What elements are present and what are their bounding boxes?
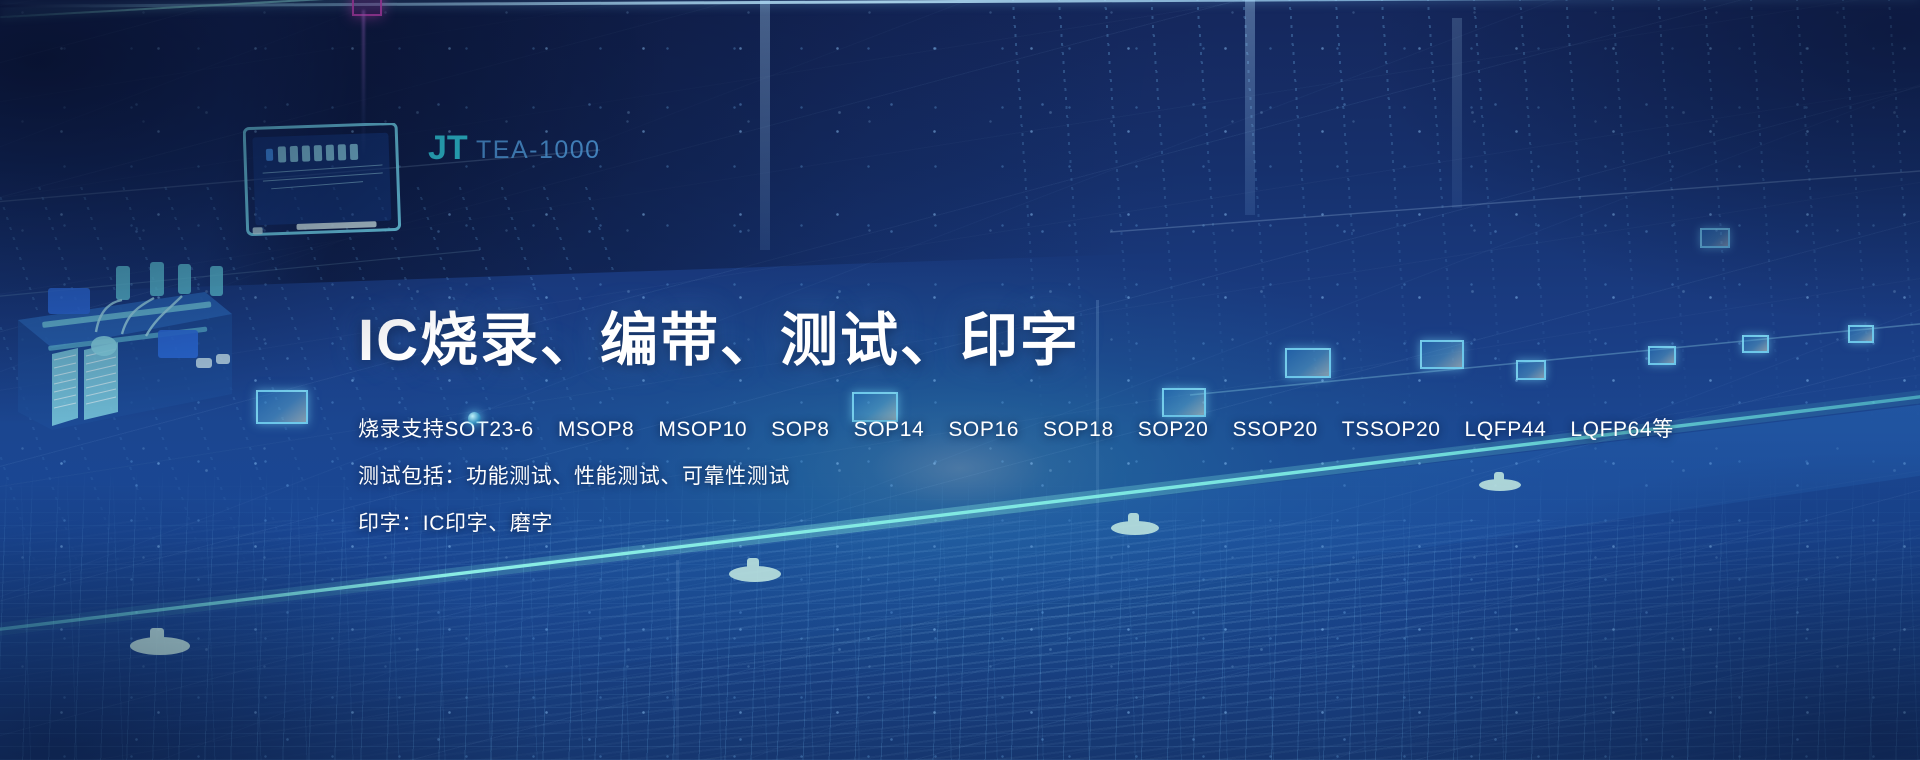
floor-light-streaks: [0, 520, 1920, 760]
chip-screen-8: [1742, 335, 1769, 353]
burn-in-machine-silhouette: [0, 262, 250, 472]
package-tssop20: TSSOP20: [1342, 418, 1441, 441]
chip-screen-1: [256, 390, 308, 424]
workstation-monitor: [243, 123, 403, 241]
list-item-testing: 测试包括：功能测试、性能测试、可靠性测试: [358, 453, 1618, 500]
package-lqfp44: LQFP44: [1465, 418, 1547, 441]
chip-screen-10: [1700, 228, 1730, 248]
package-sop16: SOP16: [948, 418, 1019, 441]
package-sop14: SOP14: [854, 418, 925, 441]
marker-light-beam: [362, 10, 365, 160]
package-ssop20: SSOP20: [1232, 418, 1317, 441]
list-item-burning: 烧录支持SOT23-6MSOP8MSOP10SOP8SOP14SOP16SOP1…: [358, 406, 1618, 453]
package-msop10: MSOP10: [658, 418, 747, 441]
glow-orb-icon: [468, 412, 481, 425]
package-msop8: MSOP8: [558, 418, 635, 441]
page-title: IC烧录、编带、测试、印字: [358, 312, 1618, 370]
package-sop18: SOP18: [1043, 418, 1114, 441]
pillar-3: [1452, 18, 1462, 208]
ic-service-banner: JT TEA-1000 JT TEA-1000 IC烧录、编带、测试、印字 烧录…: [0, 0, 1920, 760]
service-detail-list: 烧录支持SOT23-6MSOP8MSOP10SOP8SOP14SOP16SOP1…: [358, 406, 1618, 547]
pillar-2: [1245, 0, 1255, 215]
pillar-1: [760, 0, 770, 250]
banner-text-content: IC烧录、编带、测试、印字 烧录支持SOT23-6MSOP8MSOP10SOP8…: [358, 312, 1618, 547]
svg-text:TEA-1000: TEA-1000: [476, 136, 601, 164]
chip-screen-9: [1848, 325, 1874, 343]
package-sop20: SOP20: [1138, 418, 1209, 441]
svg-text:JT: JT: [428, 129, 468, 167]
magenta-marker-icon: [352, 0, 382, 16]
burning-prefix: 烧录支持SOT23-6: [358, 418, 534, 441]
machine-brand-logo: JT TEA-1000 JT TEA-1000: [428, 126, 638, 175]
pillar-5: [676, 560, 679, 760]
list-item-marking: 印字：IC印字、磨字: [358, 500, 1618, 547]
chip-screen-7: [1648, 346, 1676, 365]
package-lqfp64: LQFP64等: [1570, 418, 1673, 441]
package-sop8: SOP8: [771, 418, 829, 441]
